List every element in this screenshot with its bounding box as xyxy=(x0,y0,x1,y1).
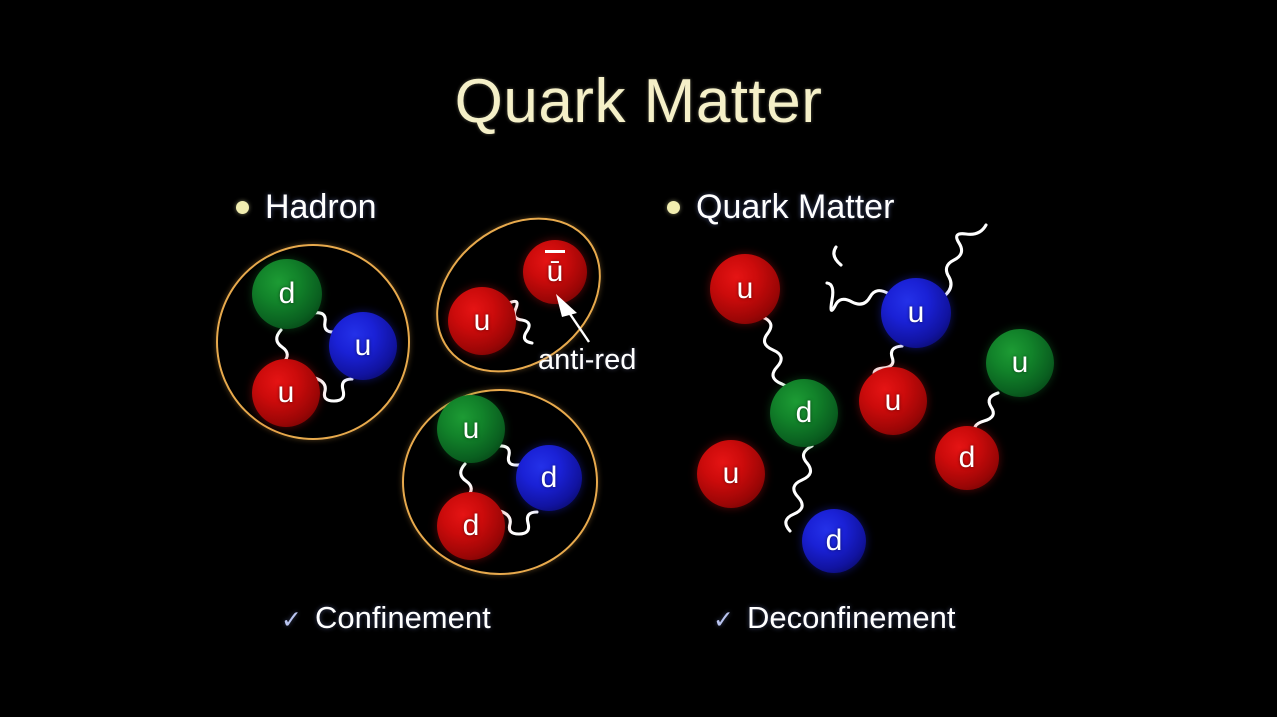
check-icon: ✓ xyxy=(281,607,302,632)
check-icon: ✓ xyxy=(713,607,734,632)
free-quark-sphere-red-u-3: u xyxy=(697,440,765,508)
column-header-hadron: Hadron xyxy=(236,188,377,227)
quark-sphere-green-d: d xyxy=(252,259,322,329)
quark-sphere-blue-d: d xyxy=(516,445,582,511)
annotation-anti-red: anti-red xyxy=(538,344,636,377)
free-quark-sphere-red-u-2: u xyxy=(859,367,927,435)
page-title: Quark Matter xyxy=(0,66,1277,137)
quark-sphere-red-d: d xyxy=(437,492,505,560)
quark-label: u xyxy=(908,298,925,328)
quark-sphere-anti-red-ubar: ū xyxy=(523,240,587,304)
quark-sphere-red-u: u xyxy=(252,359,320,427)
column-header-quark-matter: Quark Matter xyxy=(667,188,894,227)
quark-label: u xyxy=(474,306,491,336)
quark-label: u xyxy=(885,386,902,416)
quark-label: u xyxy=(1012,348,1029,378)
quark-label: u xyxy=(278,378,295,408)
quark-label: d xyxy=(541,463,558,493)
column-header-label: Hadron xyxy=(265,188,377,227)
quark-label: u xyxy=(737,274,754,304)
free-quark-sphere-green-u: u xyxy=(986,329,1054,397)
caption-deconfinement: ✓ Deconfinement xyxy=(713,600,955,636)
quark-label: u xyxy=(463,414,480,444)
caption-confinement: ✓ Confinement xyxy=(281,600,491,636)
free-quark-sphere-green-d: d xyxy=(770,379,838,447)
bullet-dot-icon xyxy=(236,201,249,214)
column-header-label: Quark Matter xyxy=(696,188,894,227)
free-quark-sphere-red-d: d xyxy=(935,426,999,490)
quark-label: d xyxy=(796,398,813,428)
quark-label: d xyxy=(826,526,843,556)
slide-canvas: Quark Matter Hadron Quark Matter xyxy=(0,0,1277,717)
free-quark-sphere-blue-d: d xyxy=(802,509,866,573)
caption-label: Confinement xyxy=(315,600,491,636)
quark-label: d xyxy=(959,443,976,473)
caption-label: Deconfinement xyxy=(747,600,956,636)
bullet-dot-icon xyxy=(667,201,680,214)
antiquark-label: ū xyxy=(547,257,564,287)
quark-label: d xyxy=(463,511,480,541)
quark-label: u xyxy=(355,331,372,361)
free-quark-sphere-red-u-1: u xyxy=(710,254,780,324)
quark-label: d xyxy=(279,279,296,309)
free-quark-sphere-blue-u: u xyxy=(881,278,951,348)
quark-sphere-blue-u: u xyxy=(329,312,397,380)
quark-sphere-green-u: u xyxy=(437,395,505,463)
quark-label: u xyxy=(723,459,740,489)
quark-sphere-red-u-meson: u xyxy=(448,287,516,355)
